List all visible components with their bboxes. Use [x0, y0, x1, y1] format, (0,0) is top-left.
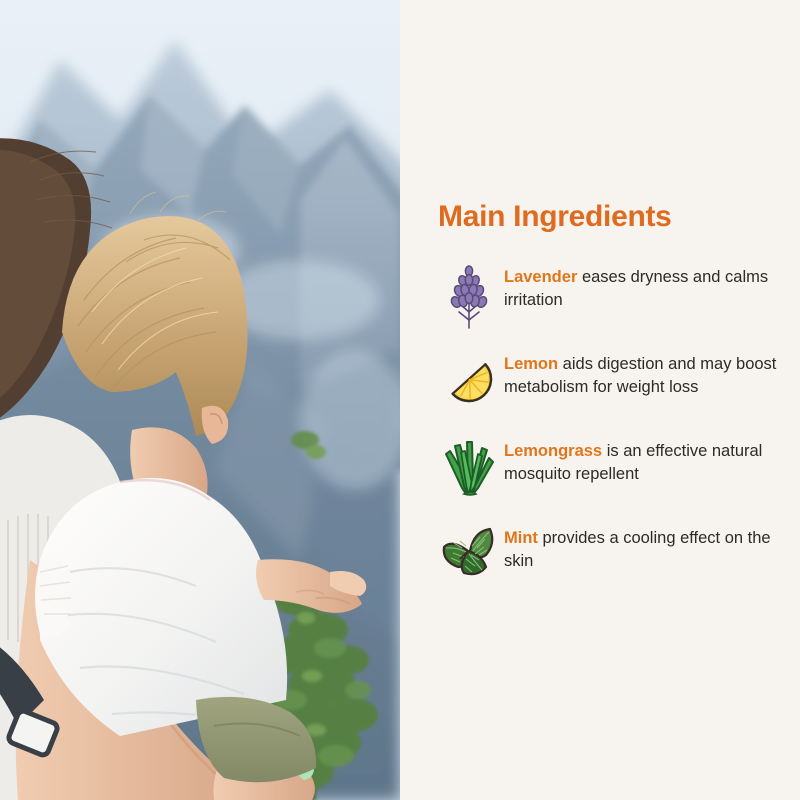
ingredient-text-lavender: Lavender eases dryness and calms irritat… [500, 262, 800, 312]
lemongrass-icon [438, 436, 500, 496]
lavender-icon [438, 262, 500, 330]
ingredient-description-mint: provides a cooling effect on the skin [504, 529, 771, 570]
ingredient-text-lemon: Lemon aids digestion and may boost metab… [500, 349, 800, 399]
ingredients-panel: Main Ingredients [400, 0, 800, 800]
ingredient-keyword-lemongrass: Lemongrass [504, 442, 602, 460]
ingredient-text-lemongrass: Lemongrass is an effective natural mosqu… [500, 436, 800, 486]
ingredient-keyword-lavender: Lavender [504, 268, 577, 286]
ingredient-text-mint: Mint provides a cooling effect on the sk… [500, 523, 800, 573]
ingredient-keyword-lemon: Lemon [504, 355, 558, 373]
mint-icon [438, 523, 500, 579]
ingredient-keyword-mint: Mint [504, 529, 538, 547]
product-info-card: Main Ingredients [0, 0, 800, 800]
page-title: Main Ingredients [438, 200, 672, 234]
ingredient-row-lemon: Lemon aids digestion and may boost metab… [400, 349, 800, 436]
ingredients-list: Lavender eases dryness and calms irritat… [400, 262, 800, 610]
photo-illustration [0, 0, 400, 800]
ingredient-row-lavender: Lavender eases dryness and calms irritat… [400, 262, 800, 349]
lifestyle-photo [0, 0, 400, 800]
ingredient-row-lemongrass: Lemongrass is an effective natural mosqu… [400, 436, 800, 523]
lemon-icon [438, 349, 500, 407]
ingredient-row-mint: Mint provides a cooling effect on the sk… [400, 523, 800, 610]
